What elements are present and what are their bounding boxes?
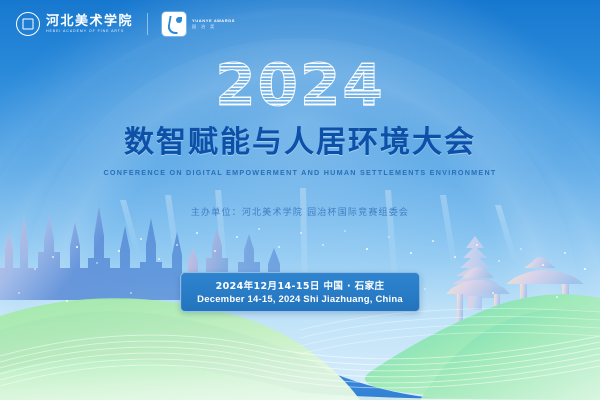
sparkle-dot	[118, 250, 120, 252]
sparkle-dot	[492, 292, 494, 294]
sparkle-dot	[158, 258, 160, 260]
sparkle-dot	[322, 244, 324, 246]
sparkle-dot	[176, 244, 178, 246]
sparkle-dot	[258, 228, 260, 230]
sparkle-dot	[214, 250, 216, 252]
year-2024: 2024	[215, 56, 384, 114]
logo-secondary-name-cn: 园 冶 奖	[192, 25, 235, 29]
date-location-badge: 2024年12月14-15日 中国 · 石家庄 December 14-15, …	[180, 272, 420, 312]
conference-poster: 河北美术学院 HEBEI ACADEMY OF FINE ARTS YUANYE…	[0, 0, 600, 400]
sparkle-dot	[76, 246, 78, 248]
front-hill	[0, 359, 600, 400]
yuanye-awards-mark-icon	[162, 12, 186, 36]
year-block: 2024	[0, 56, 600, 114]
logo-primary-name-cn: 河北美术学院	[46, 14, 133, 27]
organizer-line: 主办单位：河北美术学院 园冶杯国际竞赛组委会	[0, 205, 600, 218]
sparkle-dot	[498, 260, 500, 262]
title-block: 数智赋能与人居环境大会 CONFERENCE ON DIGITAL EMPOWE…	[0, 126, 600, 177]
sparkle-dot	[52, 256, 54, 258]
logo-secondary-name-en: YUANYE AWARDS	[192, 19, 235, 23]
logo-hebei-academy[interactable]: 河北美术学院 HEBEI ACADEMY OF FINE ARTS	[16, 12, 133, 36]
logo-primary-name-en: HEBEI ACADEMY OF FINE ARTS	[46, 30, 133, 34]
sparkle-dot	[300, 232, 302, 234]
sparkle-dot	[542, 264, 544, 266]
blue-hill-center	[0, 311, 470, 400]
sparkle-dot	[564, 252, 566, 254]
sparkle-dot	[432, 240, 434, 242]
sparkle-dot	[96, 262, 98, 264]
sparkle-dot	[344, 230, 346, 232]
sparkle-dot	[410, 252, 412, 254]
sparkle-dot	[388, 236, 390, 238]
sparkle-dot	[130, 292, 132, 294]
date-line-cn: 2024年12月14-15日 中国 · 石家庄	[197, 278, 403, 292]
university-seal-icon	[16, 12, 40, 36]
green-hill-left	[0, 298, 360, 400]
sparkle-dot	[34, 268, 36, 270]
logo-yuanye-awards[interactable]: YUANYE AWARDS 园 冶 奖	[162, 12, 235, 36]
chinese-pavilion-gate-icon	[446, 257, 584, 325]
sparkle-dot	[556, 296, 558, 298]
sparkle-dot	[18, 292, 20, 294]
sparkle-dot	[236, 236, 238, 238]
sparkle-dot	[476, 244, 478, 246]
sparkle-dot	[196, 232, 198, 234]
date-line-en: December 14-15, 2024 Shi Jiazhuang, Chin…	[197, 294, 403, 305]
chinese-pagoda-icon	[448, 236, 502, 310]
sparkle-dot	[366, 248, 368, 250]
header-logos: 河北美术学院 HEBEI ACADEMY OF FINE ARTS YUANYE…	[16, 12, 235, 36]
sparkle-dot	[140, 238, 142, 240]
sparkle-dot	[520, 248, 522, 250]
sparkle-dot	[454, 256, 456, 258]
page-title: 数智赋能与人居环境大会	[0, 126, 600, 161]
sparkle-dot	[278, 246, 280, 248]
green-hill-right-mid	[420, 309, 600, 400]
page-subtitle-en: CONFERENCE ON DIGITAL EMPOWERMENT AND HU…	[0, 168, 600, 177]
sparkle-dot	[66, 300, 68, 302]
sparkle-dot	[424, 288, 426, 290]
logo-divider	[147, 13, 148, 35]
sparkle-dot	[584, 268, 586, 270]
